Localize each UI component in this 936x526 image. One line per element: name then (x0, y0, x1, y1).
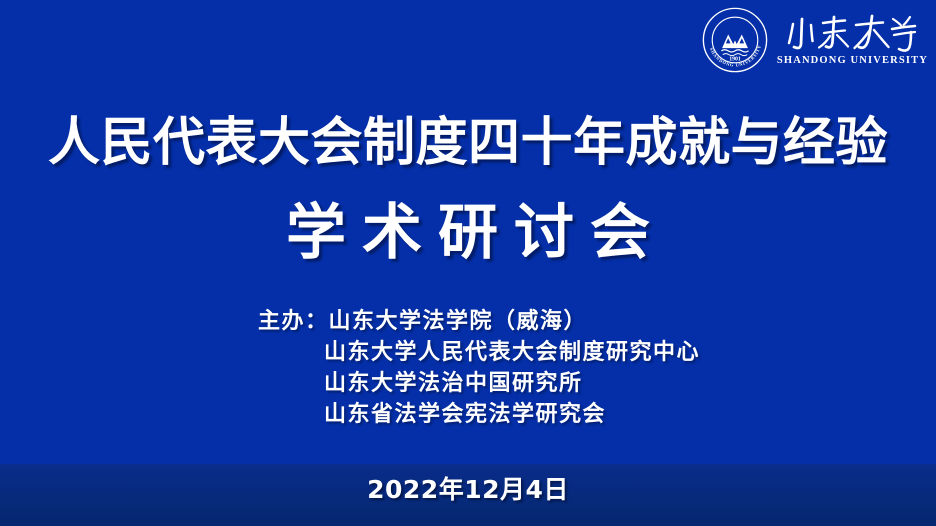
organizers-block: 主办：山东大学法学院（威海） 山东大学人民代表大会制度研究中心 山东大学法治中国… (258, 306, 700, 430)
university-logo: 1901 SHANDONG UNIVERSITY (701, 6, 928, 74)
event-date: 2022年12月4日 (0, 474, 936, 506)
organizer-name-1: 山东大学法学院（威海） (329, 308, 588, 334)
organizer-line-2: 山东大学人民代表大会制度研究中心 (258, 337, 700, 368)
university-wordmark: SHANDONG UNIVERSITY (777, 12, 928, 69)
organizer-line-4: 山东省法学会宪法学研究会 (258, 399, 700, 430)
presentation-slide: 1901 SHANDONG UNIVERSITY (0, 0, 936, 526)
wordmark-chinese-calligraphy-icon (786, 12, 918, 54)
slide-title-line1: 人民代表大会制度四十年成就与经验 (0, 112, 936, 174)
organizers-label: 主办： (258, 308, 329, 334)
organizer-line-1: 主办：山东大学法学院（威海） (258, 306, 700, 337)
organizer-line-3: 山东大学法治中国研究所 (258, 368, 700, 399)
university-crest-icon: 1901 SHANDONG UNIVERSITY (701, 6, 769, 74)
crest-year-label: 1901 (729, 57, 741, 63)
slide-title-line2: 学术研讨会 (0, 196, 936, 270)
wordmark-english-label: SHANDONG UNIVERSITY (777, 55, 928, 67)
